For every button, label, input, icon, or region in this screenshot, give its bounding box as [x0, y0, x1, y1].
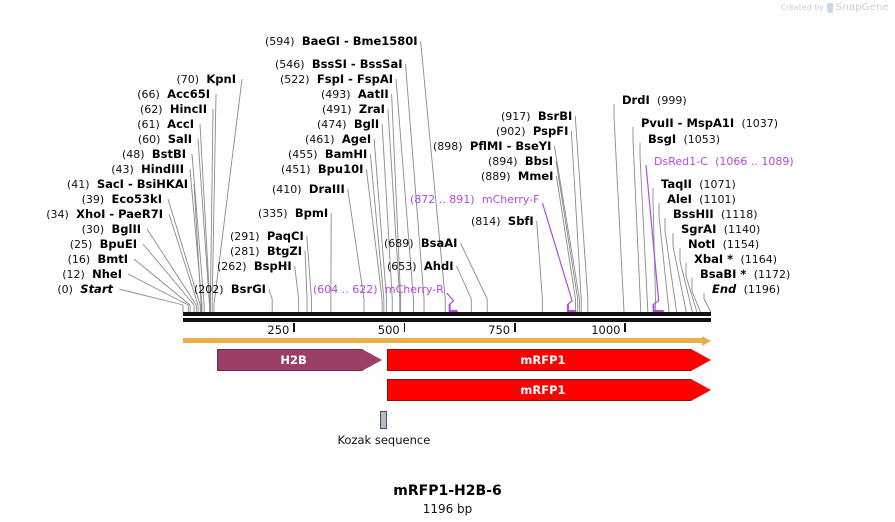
site-position: (546)	[275, 58, 305, 71]
site-enzyme-name: BpmI	[295, 206, 328, 220]
site-position: (43)	[111, 163, 134, 176]
ruler-label-500: 500	[378, 323, 400, 337]
site-position: (898)	[433, 140, 463, 153]
site-label-noti[interactable]: NotI (1154)	[688, 239, 759, 250]
site-position: (1101)	[699, 193, 736, 206]
site-position: (491)	[322, 103, 352, 116]
site-label-bmti[interactable]: (16) BmtI	[0, 254, 128, 265]
site-enzyme-name: MmeI	[518, 169, 554, 183]
site-enzyme-name: DsRed1-C	[654, 155, 708, 168]
site-position: (604 .. 622)	[313, 283, 378, 296]
site-label-paqci[interactable]: (291) PaqCI	[230, 231, 304, 242]
site-enzyme-name: BsrBI	[538, 109, 572, 123]
site-label-acci[interactable]: (61) AccI	[0, 119, 194, 130]
site-position: (455)	[288, 148, 318, 161]
site-enzyme-name: Start	[80, 282, 113, 296]
site-enzyme-name: BpuEI	[100, 237, 137, 251]
site-position: (16)	[68, 253, 91, 266]
site-label-aatii[interactable]: (493) AatII	[321, 89, 389, 100]
site-label-fspi-fspai[interactable]: (522) FspI - FspAI	[280, 74, 393, 85]
site-enzyme-name: PflMI - BseYI	[470, 139, 551, 153]
site-position: (1154)	[723, 238, 760, 251]
site-enzyme-name: SbfI	[508, 214, 534, 228]
site-label-pflmi-bseyi[interactable]: (898) PflMI - BseYI	[433, 141, 551, 152]
site-enzyme-name: BsgI	[648, 132, 676, 146]
feature-arrowhead-icon	[691, 379, 711, 401]
site-position: (493)	[321, 88, 351, 101]
site-enzyme-name: KpnI	[206, 72, 236, 86]
site-position: (39)	[82, 193, 105, 206]
site-position: (451)	[281, 163, 311, 176]
site-enzyme-name: AatII	[358, 87, 389, 101]
site-enzyme-name: BglI	[354, 117, 379, 131]
plasmid-length: 1196 bp	[0, 502, 895, 516]
site-position: (1140)	[724, 223, 761, 236]
site-position: (594)	[265, 35, 295, 48]
backbone-bar-bottom	[183, 318, 711, 322]
site-label-nhei[interactable]: (12) NheI	[0, 269, 122, 280]
site-label-bpu10i[interactable]: (451) Bpu10I	[281, 164, 363, 175]
site-enzyme-name: SgrAI	[681, 222, 716, 236]
site-enzyme-name: BamHI	[325, 147, 367, 161]
site-position: (410)	[272, 183, 302, 196]
site-label-eco53ki[interactable]: (39) Eco53kI	[0, 194, 162, 205]
site-enzyme-name: BaeGI - Bme1580I	[302, 34, 418, 48]
site-enzyme-name: SalI	[168, 132, 192, 146]
site-label-bsshii[interactable]: BssHII (1118)	[673, 209, 758, 220]
site-enzyme-name: SacI - BsiHKAI	[97, 177, 188, 191]
site-enzyme-name: Bpu10I	[318, 162, 363, 176]
site-label-bsphi[interactable]: (262) BspHI	[217, 261, 292, 272]
site-label-taqii[interactable]: TaqII (1071)	[661, 179, 736, 190]
site-label-bsaai[interactable]: (689) BsaAI	[384, 238, 457, 249]
ruler-tick-250	[293, 323, 295, 332]
site-position: (62)	[140, 103, 163, 116]
feature-label: mRFP1	[520, 353, 565, 367]
site-position: (41)	[67, 178, 90, 191]
site-enzyme-name: FspI - FspAI	[317, 72, 393, 86]
feature-arrowhead-icon	[362, 349, 382, 371]
site-label-bamhi[interactable]: (455) BamHI	[288, 149, 367, 160]
site-position: (894)	[488, 155, 518, 168]
site-position: (999)	[657, 94, 687, 107]
site-position: (202)	[194, 283, 224, 296]
site-position: (281)	[230, 245, 260, 258]
feature-arrowhead-icon	[691, 349, 711, 371]
site-label-bpuei[interactable]: (25) BpuEI	[0, 239, 137, 250]
site-enzyme-name: Acc65I	[167, 87, 210, 101]
site-enzyme-name: BsaBI *	[700, 267, 746, 281]
site-position: (917)	[501, 110, 531, 123]
site-label-hincii[interactable]: (62) HincII	[0, 104, 207, 115]
site-label-kpni[interactable]: (70) KpnI	[0, 74, 236, 85]
site-enzyme-name: PaqCI	[267, 229, 304, 243]
site-enzyme-name: mCherry-R	[385, 283, 444, 296]
snapgene-flag-icon	[827, 3, 833, 13]
site-label-bsrbi[interactable]: (917) BsrBI	[501, 111, 572, 122]
site-position: (48)	[122, 148, 145, 161]
site-enzyme-name: AgeI	[342, 132, 371, 146]
site-enzyme-name: End	[712, 282, 736, 296]
site-label-bsabi-[interactable]: BsaBI * (1172)	[700, 269, 790, 280]
site-label-bsssi-bsssai[interactable]: (546) BssSI - BssSaI	[275, 59, 402, 70]
orf-arrowhead-icon	[702, 336, 711, 346]
site-position: (461)	[305, 133, 335, 146]
ruler-tick-500	[404, 323, 406, 332]
feature-arrow-mrfp1[interactable]: mRFP1	[387, 349, 711, 371]
site-position: (1172)	[754, 268, 791, 281]
site-position: (1066 .. 1089)	[715, 155, 794, 168]
site-position: (889)	[481, 170, 511, 183]
site-label-alei[interactable]: AleI (1101)	[667, 194, 736, 205]
kozak-marker-box[interactable]	[380, 411, 387, 429]
site-enzyme-name: PvuII - MspA1I	[641, 116, 734, 130]
kozak-caption: Kozak sequence	[0, 433, 768, 447]
watermark-created-by: Created by	[781, 3, 824, 12]
ruler-tick-1000	[624, 323, 626, 332]
site-label-sbfi[interactable]: (814) SbfI	[471, 216, 534, 227]
page-title: mRFP1-H2B-6	[0, 483, 895, 499]
site-label-mcherry-f[interactable]: (872 .. 891) mCherry-F	[410, 194, 539, 205]
site-position: (60)	[138, 133, 161, 146]
site-label-bglii[interactable]: (30) BglII	[0, 224, 141, 235]
site-position: (30)	[82, 223, 105, 236]
site-enzyme-name: BtgZI	[267, 244, 302, 258]
site-label-bsgi[interactable]: BsgI (1053)	[648, 134, 720, 145]
site-label-start[interactable]: (0) Start	[0, 284, 113, 295]
site-label-sali[interactable]: (60) SalI	[0, 134, 192, 145]
site-enzyme-name: HincII	[170, 102, 207, 116]
site-position: (814)	[471, 215, 501, 228]
feature-label: mRFP1	[520, 383, 565, 397]
site-position: (291)	[230, 230, 260, 243]
site-label-pspfi[interactable]: (902) PspFI	[496, 126, 568, 137]
site-position: (653)	[387, 260, 417, 273]
site-label-mmei[interactable]: (889) MmeI	[481, 171, 553, 182]
ruler-label-1000: 1000	[591, 323, 620, 337]
site-enzyme-name: XhoI - PaeR7I	[76, 207, 163, 221]
site-position: (689)	[384, 237, 414, 250]
site-enzyme-name: XbaI *	[694, 252, 733, 266]
site-position: (0)	[57, 283, 73, 296]
ruler-tick-750	[514, 323, 516, 332]
site-label-pvuii-mspa1i[interactable]: PvuII - MspA1I (1037)	[641, 118, 778, 129]
site-enzyme-name: BspHI	[254, 259, 292, 273]
site-position: (25)	[70, 238, 93, 251]
site-enzyme-name: BssSI - BssSaI	[312, 57, 403, 71]
site-label-ahdi[interactable]: (653) AhdI	[387, 261, 454, 272]
ruler-label-750: 750	[488, 323, 510, 337]
snapgene-watermark: Created by SnapGene	[781, 2, 889, 13]
site-position: (872 .. 891)	[410, 193, 475, 206]
site-enzyme-name: Eco53kI	[111, 192, 162, 206]
site-enzyme-name: DraIII	[309, 182, 345, 196]
site-label-bsrgi[interactable]: (202) BsrGI	[194, 284, 266, 295]
site-enzyme-name: HindIII	[141, 162, 184, 176]
watermark-brand: SnapGene	[836, 2, 889, 13]
site-label-drdi[interactable]: DrdI (999)	[622, 95, 687, 106]
site-position: (262)	[217, 260, 247, 273]
site-label-bgli[interactable]: (474) BglI	[317, 119, 379, 130]
site-position: (34)	[46, 208, 69, 221]
site-position: (66)	[137, 88, 160, 101]
site-position: (1071)	[699, 178, 736, 191]
site-enzyme-name: BsrGI	[231, 282, 266, 296]
site-position: (335)	[258, 207, 288, 220]
site-enzyme-name: BbsI	[525, 154, 553, 168]
plasmid-map-canvas: Created by SnapGene (70) KpnI(66) Acc65I…	[0, 0, 895, 522]
site-enzyme-name: TaqII	[661, 177, 692, 191]
site-position: (1037)	[741, 117, 778, 130]
site-position: (70)	[176, 73, 199, 86]
site-label-btgzi[interactable]: (281) BtgZI	[230, 246, 302, 257]
ruler-label-250: 250	[267, 323, 289, 337]
site-enzyme-name: AhdI	[424, 259, 454, 273]
site-position: (61)	[137, 118, 160, 131]
site-position: (474)	[317, 118, 347, 131]
site-enzyme-name: mCherry-F	[482, 193, 540, 206]
site-label-draiii[interactable]: (410) DraIII	[272, 184, 345, 195]
site-position: (12)	[62, 268, 85, 281]
site-enzyme-name: AleI	[667, 192, 692, 206]
site-label-baegi-bme1580i[interactable]: (594) BaeGI - Bme1580I	[265, 36, 418, 47]
site-label-dsred1-c[interactable]: DsRed1-C (1066 .. 1089)	[654, 156, 794, 167]
site-enzyme-name: DrdI	[622, 93, 650, 107]
site-label-sgrai[interactable]: SgrAI (1140)	[681, 224, 760, 235]
site-label-bpmi[interactable]: (335) BpmI	[258, 208, 328, 219]
site-label-saci-bsihkai[interactable]: (41) SacI - BsiHKAI	[0, 179, 188, 190]
feature-arrow-h2b[interactable]: H2B	[217, 349, 381, 371]
site-position: (1053)	[683, 133, 720, 146]
site-position: (1196)	[744, 283, 781, 296]
site-enzyme-name: AccI	[167, 117, 194, 131]
orf-span-line	[183, 338, 703, 343]
site-label-bbsi[interactable]: (894) BbsI	[488, 156, 553, 167]
site-label-xhoi-paer7i[interactable]: (34) XhoI - PaeR7I	[0, 209, 163, 220]
site-label-agei[interactable]: (461) AgeI	[305, 134, 371, 145]
site-label-hindiii[interactable]: (43) HindIII	[0, 164, 184, 175]
site-enzyme-name: BmtI	[97, 252, 128, 266]
site-position: (1164)	[740, 253, 777, 266]
site-enzyme-name: NotI	[688, 237, 715, 251]
site-label-mcherry-r[interactable]: (604 .. 622) mCherry-R	[313, 284, 444, 295]
site-enzyme-name: ZraI	[359, 102, 385, 116]
feature-label: H2B	[280, 353, 306, 367]
site-enzyme-name: PspFI	[533, 124, 568, 138]
site-enzyme-name: NheI	[92, 267, 122, 281]
site-position: (522)	[280, 73, 310, 86]
site-label-bstbi[interactable]: (48) BstBI	[0, 149, 186, 160]
site-enzyme-name: BsaAI	[421, 236, 458, 250]
site-position: (1118)	[721, 208, 758, 221]
site-position: (902)	[496, 125, 526, 138]
site-label-end[interactable]: End (1196)	[712, 284, 780, 295]
site-enzyme-name: BglII	[112, 222, 142, 236]
feature-arrow-mrfp1[interactable]: mRFP1	[387, 379, 711, 401]
backbone-bar-top	[183, 312, 711, 316]
site-label-zrai[interactable]: (491) ZraI	[322, 104, 385, 115]
site-label-xbai-[interactable]: XbaI * (1164)	[694, 254, 777, 265]
site-label-acc65i[interactable]: (66) Acc65I	[0, 89, 210, 100]
site-enzyme-name: BssHII	[673, 207, 714, 221]
site-enzyme-name: BstBI	[152, 147, 186, 161]
